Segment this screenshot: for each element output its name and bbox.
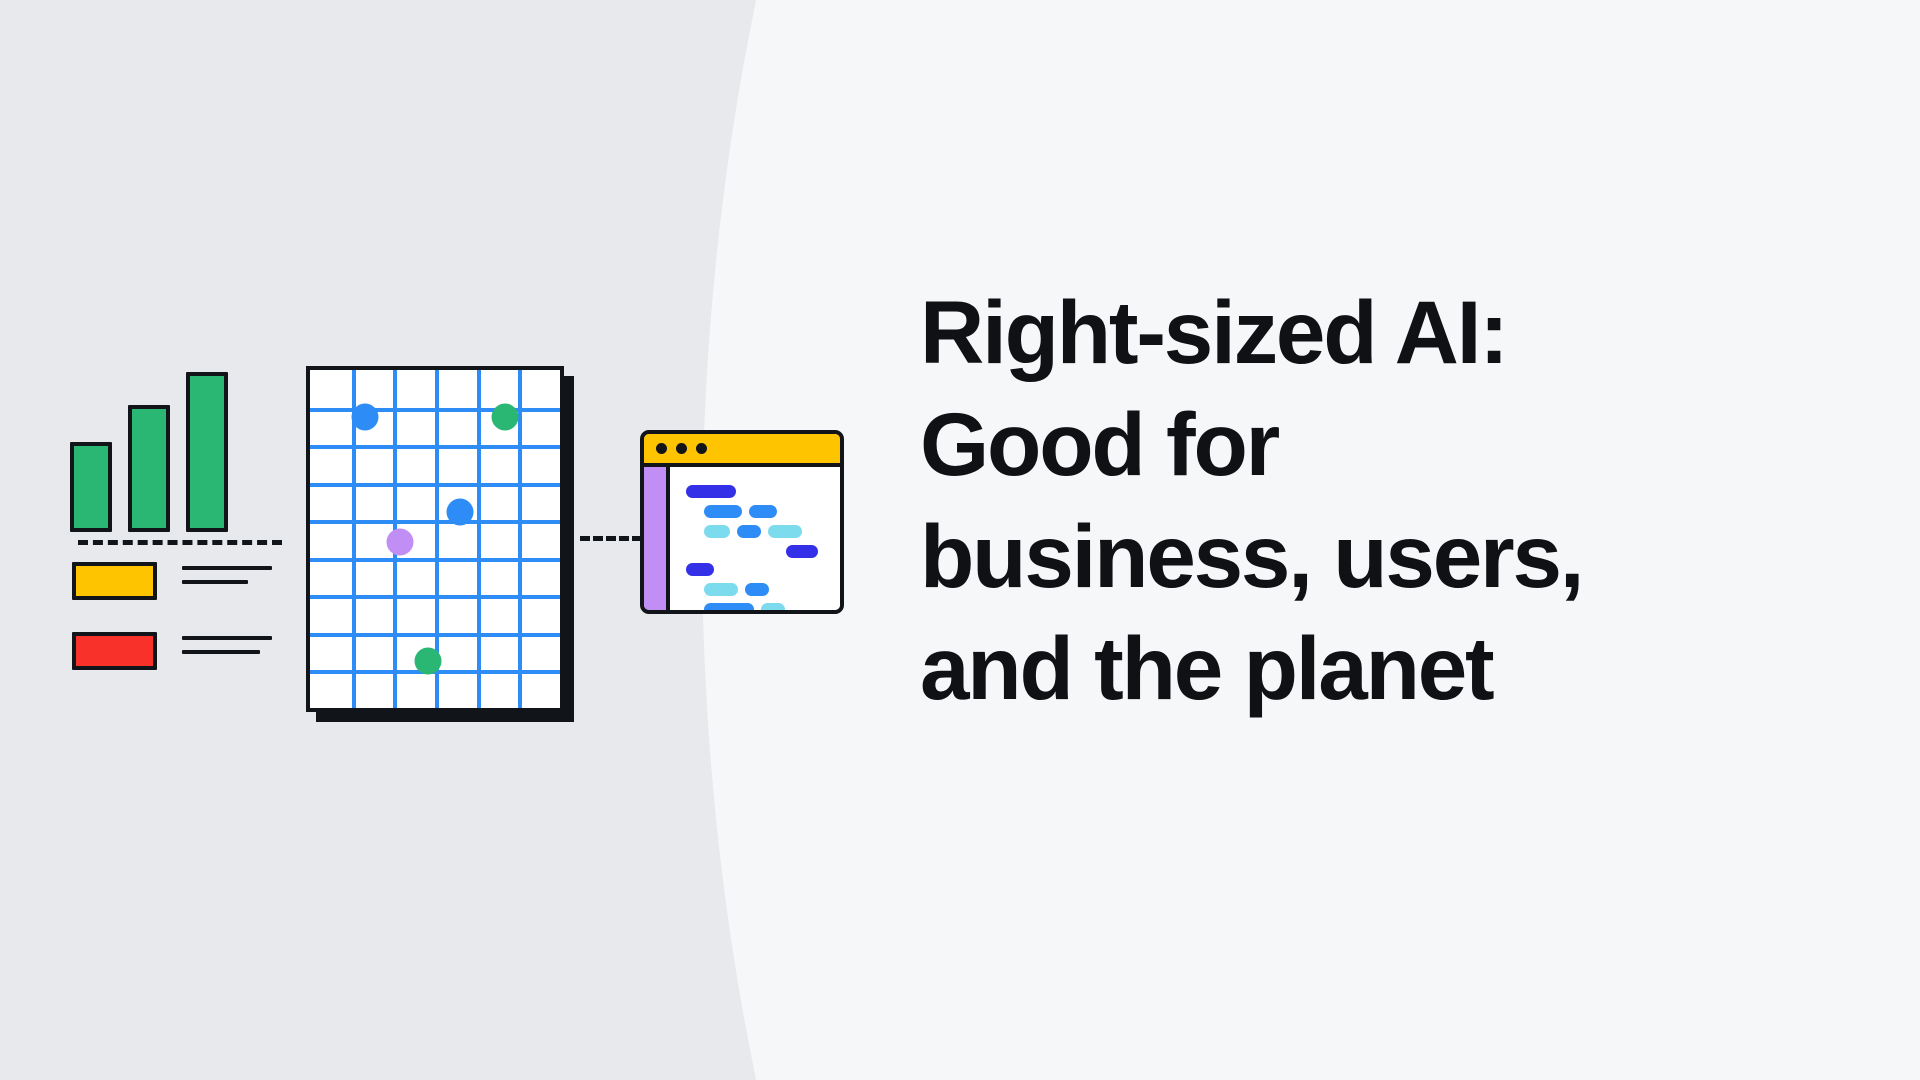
grid-line-horizontal <box>310 408 560 412</box>
code-line-1 <box>686 485 736 498</box>
code-token-pill <box>737 525 761 538</box>
page-title-line-1: Right-sized AI: <box>920 276 1820 388</box>
page-title-line-3: business, users, <box>920 500 1820 612</box>
legend-swatch-yellow <box>72 562 157 600</box>
browser-window-mockup <box>640 430 844 614</box>
code-token-pill <box>704 583 738 596</box>
page-title-line-4: and the planet <box>920 612 1820 724</box>
legend-swatch-red <box>72 632 157 670</box>
legend-text-lines-yellow <box>182 566 272 594</box>
page-title: Right-sized AI:Good forbusiness, users,a… <box>920 276 1820 725</box>
grid-line-vertical <box>518 370 522 708</box>
dot-green-2 <box>414 647 441 674</box>
data-grid-card-face <box>306 366 564 712</box>
grid-line-horizontal <box>310 633 560 637</box>
browser-titlebar <box>644 434 840 467</box>
grid-line-horizontal <box>310 595 560 599</box>
traffic-light-icon <box>676 443 687 454</box>
code-line-4 <box>786 545 818 558</box>
dot-blue-1 <box>352 404 379 431</box>
code-token-pill <box>786 545 818 558</box>
legend-rule-line <box>182 580 248 584</box>
illustration-group <box>0 0 900 1080</box>
code-token-pill <box>704 525 730 538</box>
code-line-6 <box>704 583 769 596</box>
bar-chart-bar-1 <box>70 442 112 532</box>
dashed-connector <box>580 536 642 541</box>
code-token-pill <box>749 505 777 518</box>
page-title-line-2: Good for <box>920 388 1820 500</box>
bar-chart-growth <box>70 372 250 532</box>
bar-chart-bar-3 <box>186 372 228 532</box>
bar-chart-bar-2 <box>128 405 170 532</box>
browser-content-area <box>674 467 840 610</box>
legend-rule-line <box>182 566 272 570</box>
traffic-light-icon <box>696 443 707 454</box>
legend-rule-line <box>182 636 272 640</box>
code-line-3 <box>704 525 802 538</box>
hero-banner: Right-sized AI:Good forbusiness, users,a… <box>0 0 1920 1080</box>
grid-line-vertical <box>477 370 481 708</box>
code-line-7 <box>704 603 785 614</box>
code-token-pill <box>761 603 785 614</box>
dot-blue-2 <box>447 498 474 525</box>
code-line-5 <box>686 563 714 576</box>
code-token-pill <box>686 485 736 498</box>
legend-rule-line <box>182 650 260 654</box>
dot-green-1 <box>492 404 519 431</box>
grid-line-horizontal <box>310 483 560 487</box>
code-token-pill <box>704 603 754 614</box>
code-token-pill <box>745 583 769 596</box>
code-line-2 <box>704 505 777 518</box>
legend-text-lines-red <box>182 636 272 664</box>
code-token-pill <box>704 505 742 518</box>
data-grid-card <box>306 366 578 722</box>
dot-purple-1 <box>387 529 414 556</box>
code-token-pill <box>686 563 714 576</box>
grid-line-horizontal <box>310 520 560 524</box>
code-token-pill <box>768 525 802 538</box>
grid-line-horizontal <box>310 558 560 562</box>
browser-sidebar <box>644 467 670 610</box>
traffic-light-icon <box>656 443 667 454</box>
grid-line-horizontal <box>310 445 560 449</box>
bar-chart-baseline <box>78 540 282 545</box>
